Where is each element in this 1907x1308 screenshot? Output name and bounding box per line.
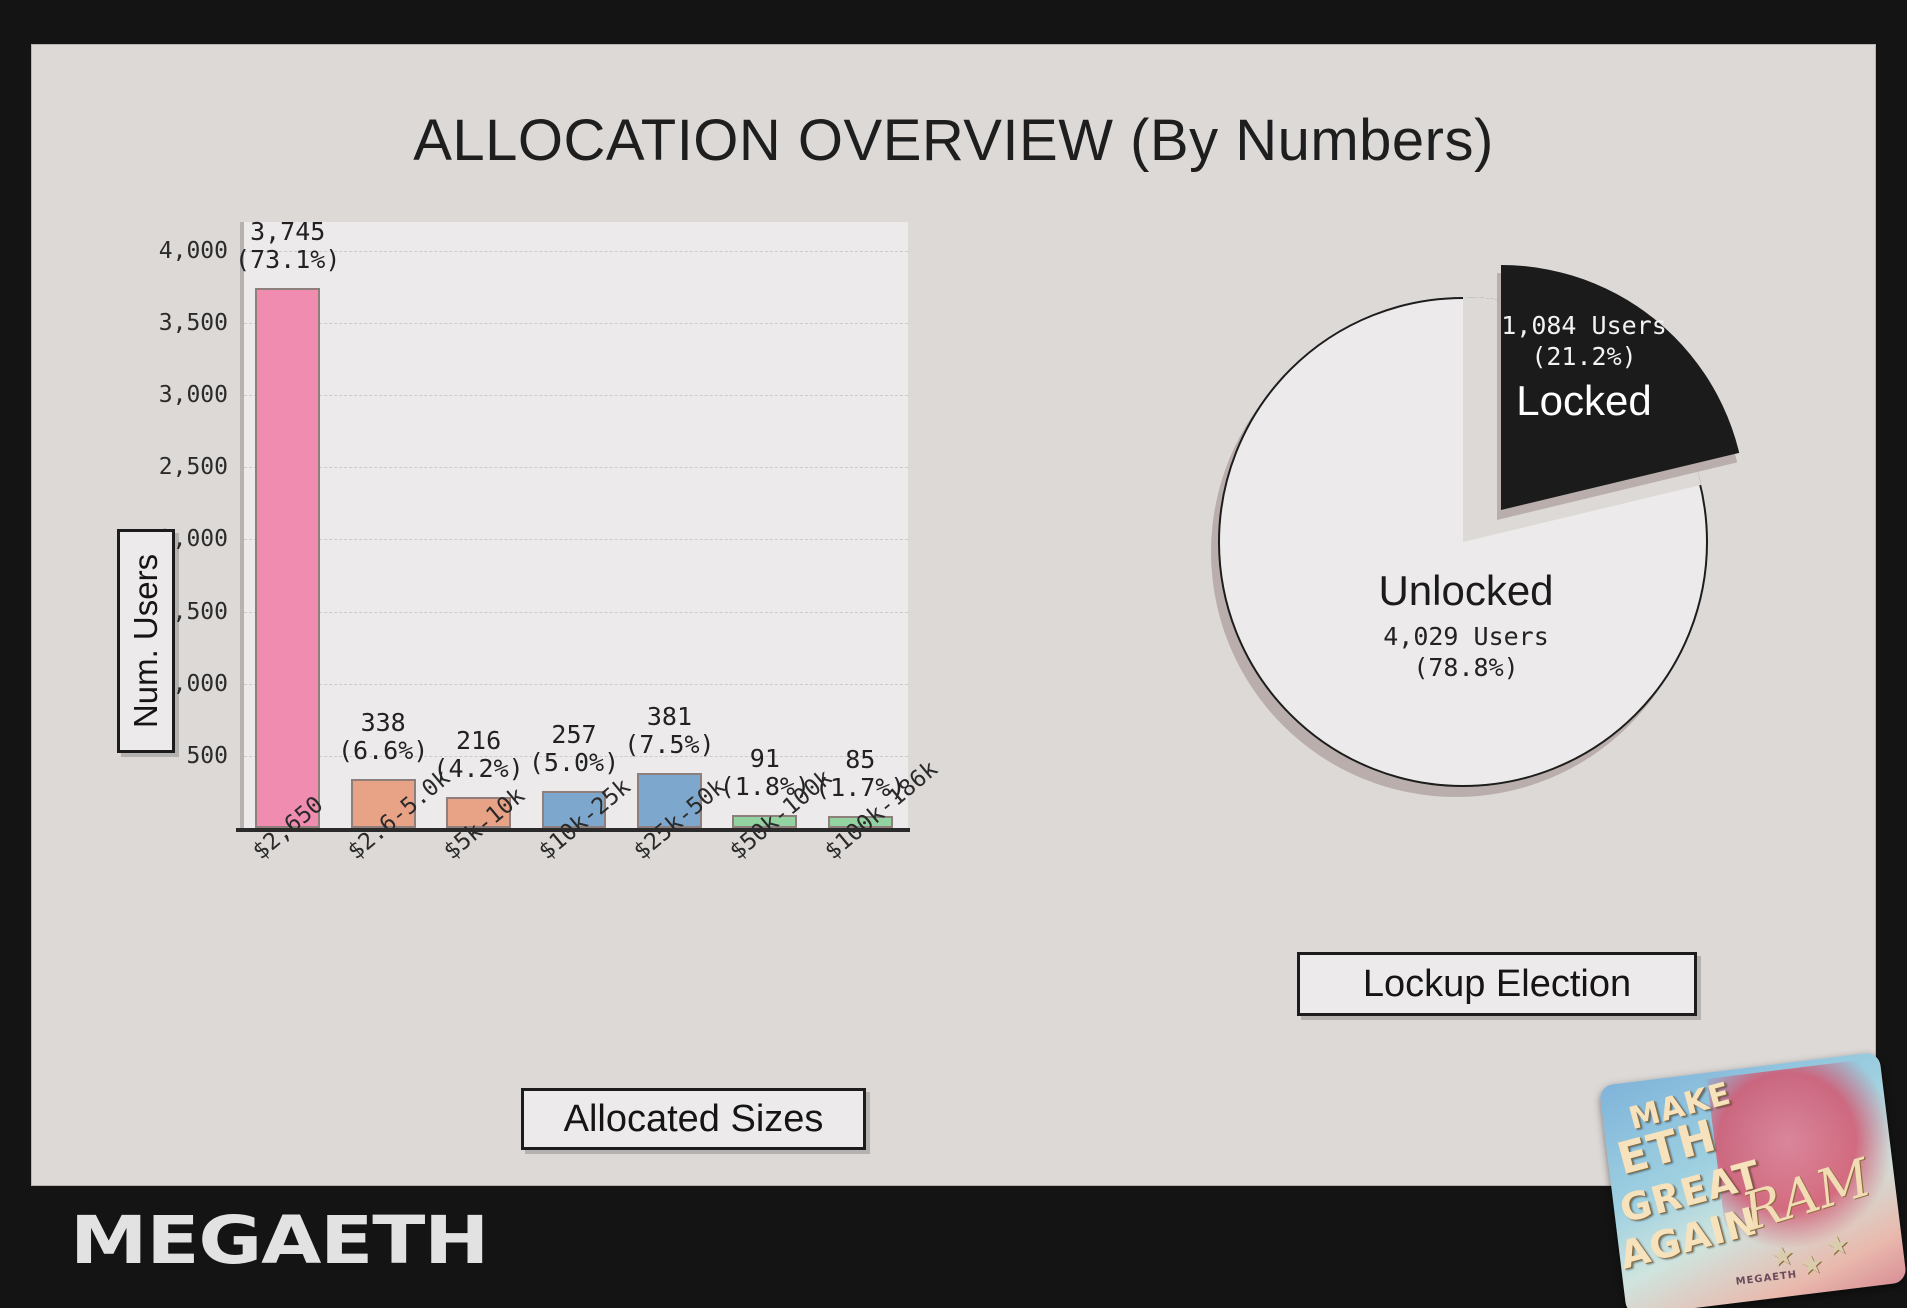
bar-label: 257(5.0%) — [529, 721, 619, 777]
gridline — [244, 684, 908, 685]
y-axis-tick: 500 — [186, 743, 228, 769]
y-axis-label: Num. Users — [127, 554, 165, 728]
star-icon: ★ — [1824, 1229, 1851, 1263]
y-axis-tick: 2,500 — [159, 454, 228, 480]
bar-label: 3,745(73.1%) — [235, 218, 340, 274]
bar — [255, 288, 320, 828]
gridline — [244, 395, 908, 396]
locked-name-label: Locked — [1516, 377, 1651, 425]
unlocked-name-label: Unlocked — [1378, 567, 1553, 615]
y-axis-tick: 4,000 — [159, 238, 228, 264]
star-icon: ★ — [1769, 1240, 1796, 1274]
make-eth-great-again-sticker: MAKE ETH GREAT AGAIN RAM ★ ★ ★ MEGAETH — [1599, 1052, 1907, 1308]
unlocked-users-label: 4,029 Users (78.8%) — [1383, 621, 1549, 684]
bar-label: 338(6.6%) — [338, 709, 428, 765]
y-axis-tick: 3,000 — [159, 382, 228, 408]
bar-chart-panel: 5001,0001,5002,0002,5003,0003,5004,000 3… — [32, 45, 1092, 1185]
y-axis-label-box: Num. Users — [117, 529, 175, 753]
gridline — [244, 539, 908, 540]
locked-users-label: 1,084 Users (21.2%) — [1501, 310, 1667, 373]
y-axis-tick: 3,500 — [159, 310, 228, 336]
pie-caption-box: Lockup Election — [1297, 952, 1697, 1016]
gridline — [244, 323, 908, 324]
bar-label: 381(7.5%) — [624, 703, 714, 759]
slide-card: ALLOCATION OVERVIEW (By Numbers) 5001,00… — [32, 45, 1875, 1185]
gridline — [244, 251, 908, 252]
sticker-brand-text: MEGAETH — [1735, 1269, 1798, 1287]
x-axis-label-box: Allocated Sizes — [521, 1088, 866, 1150]
star-icon: ★ — [1798, 1248, 1825, 1282]
gridline — [244, 612, 908, 613]
megaeth-logo: MEGAETH — [70, 1202, 488, 1279]
gridline — [244, 467, 908, 468]
pie-chart-panel: 1,084 Users (21.2%) Locked Unlocked 4,02… — [1092, 45, 1907, 1185]
